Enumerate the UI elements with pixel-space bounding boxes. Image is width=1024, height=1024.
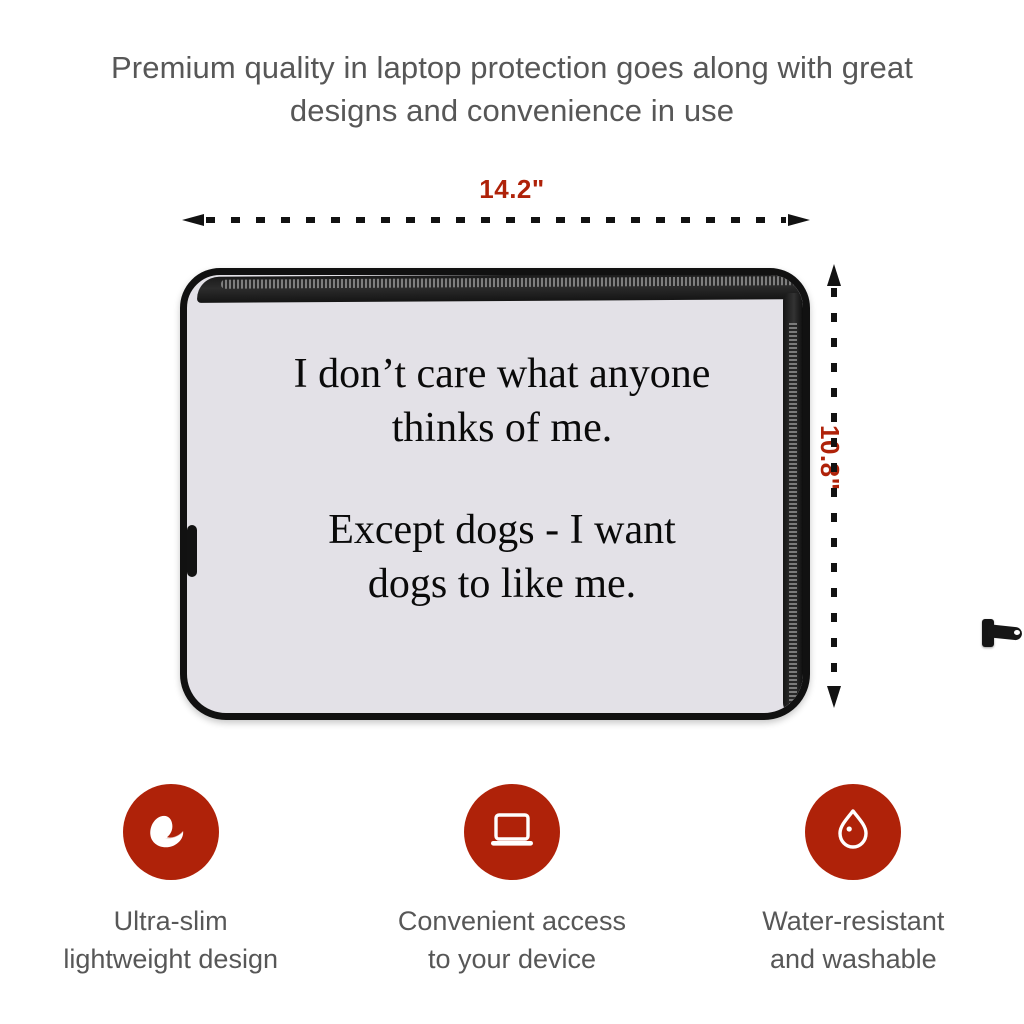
quote-line-2: thinks of me.	[233, 401, 771, 455]
feature-row: Ultra-slim lightweight design Convenient…	[0, 784, 1024, 994]
quote-stanza-2: Except dogs - I want dogs to like me.	[233, 503, 771, 611]
printed-quote: I don’t care what anyone thinks of me. E…	[233, 347, 771, 611]
feature-caption-3: Water-resistant and washable	[762, 902, 944, 978]
feature-caption-1-line-1: Ultra-slim	[63, 902, 278, 940]
zipper-pull-hole	[1014, 630, 1020, 635]
zipper-left-tab	[187, 525, 197, 577]
feature-item-water-resistant: Water-resistant and washable	[683, 784, 1024, 994]
infographic-canvas: Premium quality in laptop protection goe…	[0, 0, 1024, 1024]
quote-stanza-1: I don’t care what anyone thinks of me.	[233, 347, 771, 455]
headline: Premium quality in laptop protection goe…	[0, 46, 1024, 132]
feature-badge-2	[464, 784, 560, 880]
headline-line-2: designs and convenience in use	[0, 89, 1024, 132]
feature-caption-2-line-2: to your device	[398, 940, 626, 978]
feature-caption-1-line-2: lightweight design	[63, 940, 278, 978]
headline-line-1: Premium quality in laptop protection goe…	[0, 46, 1024, 89]
product-image: I don’t care what anyone thinks of me. E…	[176, 262, 820, 724]
feature-badge-1	[123, 784, 219, 880]
feature-badge-3	[805, 784, 901, 880]
zipper-right-teeth	[789, 323, 797, 713]
width-dimension-line	[182, 213, 810, 225]
laptop-icon	[483, 801, 541, 864]
quote-line-3: Except dogs - I want	[233, 503, 771, 557]
width-dimension-label: 14.2"	[0, 174, 1024, 205]
quote-spacer	[233, 455, 771, 503]
quote-line-4: dogs to like me.	[233, 557, 771, 611]
feature-item-ultra-slim: Ultra-slim lightweight design	[0, 784, 341, 994]
feature-caption-3-line-1: Water-resistant	[762, 902, 944, 940]
sleeve-body: I don’t care what anyone thinks of me. E…	[180, 268, 810, 720]
feather-icon	[143, 802, 199, 863]
feature-caption-2: Convenient access to your device	[398, 902, 626, 978]
zipper-teeth	[221, 276, 810, 289]
feature-item-convenient-access: Convenient access to your device	[341, 784, 682, 994]
quote-line-1: I don’t care what anyone	[233, 347, 771, 401]
feature-caption-1: Ultra-slim lightweight design	[63, 902, 278, 978]
zipper-top-tape	[197, 273, 810, 303]
feature-caption-2-line-1: Convenient access	[398, 902, 626, 940]
zipper-right-run	[783, 293, 803, 713]
feature-caption-3-line-2: and washable	[762, 940, 944, 978]
water-drop-icon	[826, 803, 880, 862]
height-dimension-line	[827, 264, 841, 708]
